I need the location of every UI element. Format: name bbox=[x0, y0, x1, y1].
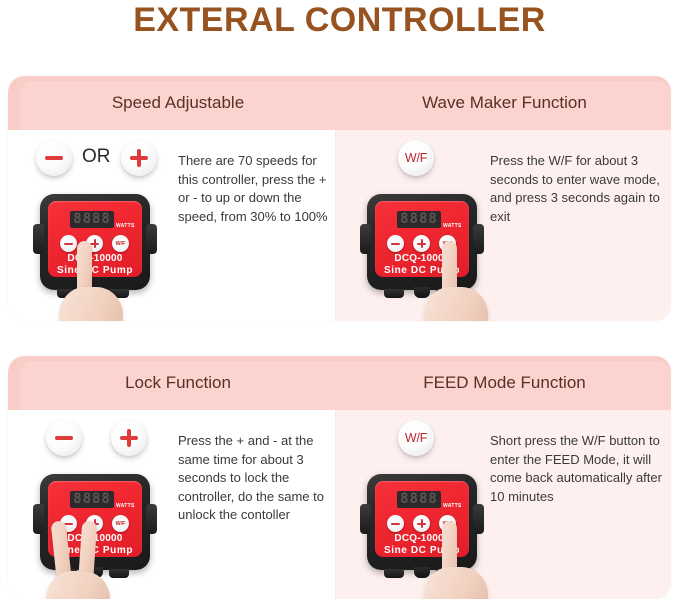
minus-icon bbox=[64, 243, 73, 245]
device-model-text: DCQ-10000 Sine DC Pump bbox=[375, 253, 469, 276]
device-connector bbox=[414, 567, 430, 578]
device-plus-button[interactable] bbox=[413, 515, 430, 532]
watts-label: WATTS bbox=[443, 503, 462, 509]
minus-icon bbox=[391, 523, 400, 525]
mount-ear-left bbox=[33, 504, 44, 534]
floating-minus-button[interactable] bbox=[46, 420, 82, 456]
floating-wf-button[interactable]: W/F bbox=[398, 140, 434, 176]
device-model-line2: Sine DC Pump bbox=[48, 265, 142, 277]
device-model-line1: DCQ-10000 bbox=[375, 533, 469, 545]
description-feed-mode: Short press the W/F button to enter the … bbox=[490, 432, 662, 506]
device-minus-button[interactable] bbox=[60, 235, 77, 252]
wf-icon: W/F bbox=[442, 521, 452, 527]
card-lock-and-feed: Lock Function FEED Mode Function 8888 WA… bbox=[8, 356, 671, 599]
led-display: 8888 bbox=[397, 491, 441, 508]
device-minus-button[interactable] bbox=[387, 515, 404, 532]
mount-ear-left bbox=[360, 504, 371, 534]
device-foot-left bbox=[57, 289, 77, 298]
plus-icon bbox=[417, 519, 426, 528]
mount-ear-right bbox=[473, 504, 484, 534]
device-wf-button[interactable]: W/F bbox=[112, 515, 129, 532]
device-foot-left bbox=[57, 569, 77, 578]
panel-divider bbox=[335, 410, 336, 599]
led-display: 8888 bbox=[70, 211, 114, 228]
device-connector bbox=[87, 287, 103, 298]
device-plus-button[interactable] bbox=[86, 515, 103, 532]
page-title: EXTERAL CONTROLLER bbox=[0, 0, 679, 40]
mount-ear-right bbox=[473, 224, 484, 254]
panel-divider bbox=[335, 130, 336, 321]
mount-ear-right bbox=[146, 504, 157, 534]
plus-icon bbox=[120, 429, 138, 447]
device-plus-button[interactable] bbox=[86, 235, 103, 252]
card-header-bottom: Lock Function FEED Mode Function bbox=[8, 356, 671, 410]
controller-device-lock[interactable]: 8888 WATTS W/F DCQ-10000 Sine DC Pump bbox=[33, 474, 157, 578]
device-connector bbox=[414, 287, 430, 298]
watts-label: WATTS bbox=[443, 223, 462, 229]
device-minus-button[interactable] bbox=[60, 515, 77, 532]
mount-ear-right bbox=[146, 224, 157, 254]
device-model-line1: DCQ-10000 bbox=[48, 533, 142, 545]
mount-ear-left bbox=[33, 224, 44, 254]
wf-icon: W/F bbox=[115, 241, 125, 247]
device-connector bbox=[87, 567, 103, 578]
plus-icon bbox=[130, 149, 148, 167]
device-minus-button[interactable] bbox=[387, 235, 404, 252]
controller-device-speed[interactable]: 8888 WATTS W/F DCQ-10000 Sine DC Pump bbox=[33, 194, 157, 298]
floating-plus-button[interactable] bbox=[111, 420, 147, 456]
led-display: 8888 bbox=[397, 211, 441, 228]
panel-header-speed-adjustable: Speed Adjustable bbox=[18, 92, 338, 114]
description-wave-maker: Press the W/F for about 3 seconds to ent… bbox=[490, 152, 660, 226]
device-model-text: DCQ-10000 Sine DC Pump bbox=[48, 533, 142, 556]
device-faceplate: 8888 WATTS W/F DCQ-10000 Sine DC Pump bbox=[48, 481, 142, 557]
wf-icon: W/F bbox=[405, 151, 427, 165]
minus-icon bbox=[64, 523, 73, 525]
device-foot-right bbox=[436, 569, 456, 578]
device-model-line2: Sine DC Pump bbox=[48, 545, 142, 557]
device-faceplate: 8888 WATTS W/F DCQ-10000 Sine DC Pump bbox=[375, 201, 469, 277]
device-foot-left bbox=[384, 289, 404, 298]
floating-wf-button[interactable]: W/F bbox=[398, 420, 434, 456]
floating-minus-button[interactable] bbox=[36, 140, 72, 176]
device-wf-button[interactable]: W/F bbox=[112, 235, 129, 252]
card-header-top: Speed Adjustable Wave Maker Function bbox=[8, 76, 671, 130]
device-wf-button[interactable]: W/F bbox=[439, 515, 456, 532]
card-speed-and-wave: Speed Adjustable Wave Maker Function OR … bbox=[8, 76, 671, 321]
device-foot-right bbox=[109, 289, 129, 298]
panel-header-feed-mode: FEED Mode Function bbox=[338, 372, 671, 394]
device-model-line1: DCQ-10000 bbox=[375, 253, 469, 265]
floating-plus-button[interactable] bbox=[121, 140, 157, 176]
device-faceplate: 8888 WATTS W/F DCQ-10000 Sine DC Pump bbox=[48, 201, 142, 277]
wf-icon: W/F bbox=[442, 241, 452, 247]
controller-device-wave[interactable]: 8888 WATTS W/F DCQ-10000 Sine DC Pump bbox=[360, 194, 484, 298]
device-model-line1: DCQ-10000 bbox=[48, 253, 142, 265]
device-plus-button[interactable] bbox=[413, 235, 430, 252]
device-model-line2: Sine DC Pump bbox=[375, 545, 469, 557]
panel-header-lock-function: Lock Function bbox=[18, 372, 338, 394]
led-display: 8888 bbox=[70, 491, 114, 508]
minus-icon bbox=[391, 243, 400, 245]
plus-icon bbox=[90, 519, 99, 528]
plus-icon bbox=[90, 239, 99, 248]
device-foot-left bbox=[384, 569, 404, 578]
device-faceplate: 8888 WATTS W/F DCQ-10000 Sine DC Pump bbox=[375, 481, 469, 557]
watts-label: WATTS bbox=[116, 503, 135, 509]
device-model-text: DCQ-10000 Sine DC Pump bbox=[375, 533, 469, 556]
device-foot-right bbox=[436, 289, 456, 298]
controller-device-feed[interactable]: 8888 WATTS W/F DCQ-10000 Sine DC Pump bbox=[360, 474, 484, 578]
device-wf-button[interactable]: W/F bbox=[439, 235, 456, 252]
minus-icon bbox=[55, 436, 73, 440]
mount-ear-left bbox=[360, 224, 371, 254]
watts-label: WATTS bbox=[116, 223, 135, 229]
device-model-line2: Sine DC Pump bbox=[375, 265, 469, 277]
minus-icon bbox=[45, 156, 63, 160]
plus-icon bbox=[417, 239, 426, 248]
wf-icon: W/F bbox=[405, 431, 427, 445]
device-model-text: DCQ-10000 Sine DC Pump bbox=[48, 253, 142, 276]
wf-icon: W/F bbox=[115, 521, 125, 527]
description-lock-function: Press the + and - at the same time for a… bbox=[178, 432, 330, 525]
or-label: OR bbox=[82, 146, 111, 168]
panel-header-wave-maker: Wave Maker Function bbox=[338, 92, 671, 114]
description-speed-adjustable: There are 70 speeds for this controller,… bbox=[178, 152, 328, 226]
device-foot-right bbox=[109, 569, 129, 578]
